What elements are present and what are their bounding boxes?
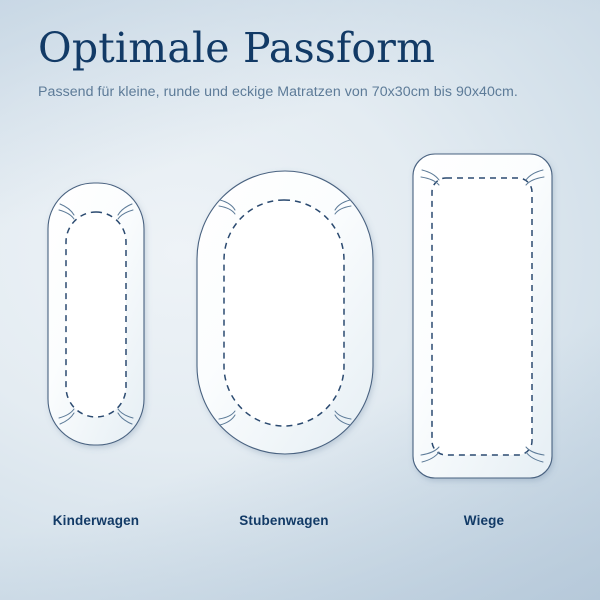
mattress-dashed-stubenwagen (224, 200, 344, 426)
page-subtitle: Passend für kleine, runde und eckige Mat… (38, 84, 568, 100)
mattress-dashed-kinderwagen (66, 212, 126, 417)
infographic-canvas: Optimale Passform Passend für kleine, ru… (0, 0, 600, 600)
shape-label-wiege: Wiege (405, 513, 563, 528)
shape-wiege (413, 154, 552, 478)
shape-label-kinderwagen: Kinderwagen (25, 513, 167, 528)
header-block: Optimale Passform Passend für kleine, ru… (38, 28, 568, 100)
shape-label-stubenwagen: Stubenwagen (195, 513, 373, 528)
shape-kinderwagen (48, 183, 144, 445)
mattress-dashed-wiege (432, 178, 532, 455)
page-title: Optimale Passform (38, 28, 568, 69)
shape-stubenwagen (197, 171, 373, 454)
